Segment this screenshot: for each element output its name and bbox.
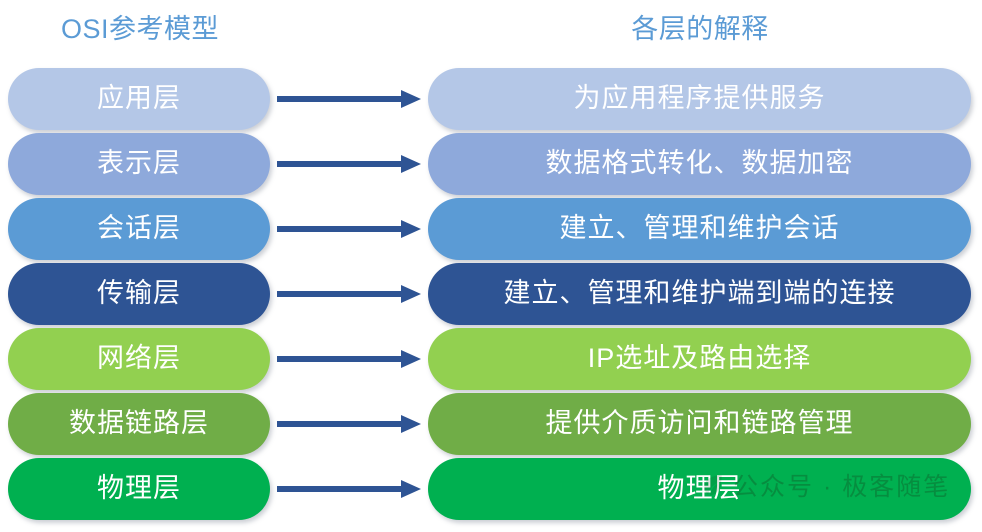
arrow-head bbox=[401, 480, 421, 498]
layer-row: 会话层建立、管理和维护会话 bbox=[0, 198, 982, 260]
layer-description-label: 提供介质访问和链路管理 bbox=[546, 410, 854, 439]
layer-pill[interactable]: 表示层 bbox=[8, 133, 270, 195]
layer-name-label: 数据链路层 bbox=[69, 410, 209, 439]
layer-description-label: IP选址及路由选择 bbox=[588, 345, 812, 374]
right-arrow-icon bbox=[277, 222, 427, 236]
layer-description-label: 建立、管理和维护会话 bbox=[560, 215, 840, 244]
layer-name-label: 物理层 bbox=[97, 475, 181, 504]
layer-pill[interactable]: 网络层 bbox=[8, 328, 270, 390]
layer-name-label: 应用层 bbox=[97, 85, 181, 114]
layer-pill[interactable]: 应用层 bbox=[8, 68, 270, 130]
layer-description-pill[interactable]: 建立、管理和维护端到端的连接 bbox=[428, 263, 971, 325]
layer-pill[interactable]: 数据链路层 bbox=[8, 393, 270, 455]
layer-name-label: 网络层 bbox=[97, 345, 181, 374]
layer-description-pill[interactable]: 建立、管理和维护会话 bbox=[428, 198, 971, 260]
layer-name-label: 表示层 bbox=[97, 150, 181, 179]
layer-row: 表示层数据格式转化、数据加密 bbox=[0, 133, 982, 195]
layer-description-pill[interactable]: 提供介质访问和链路管理 bbox=[428, 393, 971, 455]
right-arrow-icon bbox=[277, 157, 427, 171]
right-arrow-icon bbox=[277, 287, 427, 301]
layer-description-label: 建立、管理和维护端到端的连接 bbox=[504, 280, 896, 309]
right-arrow-icon bbox=[277, 482, 427, 496]
layer-description-label: 为应用程序提供服务 bbox=[574, 85, 826, 114]
arrow-shaft bbox=[277, 96, 401, 102]
arrow-shaft bbox=[277, 291, 401, 297]
arrow-head bbox=[401, 285, 421, 303]
layer-name-label: 传输层 bbox=[97, 280, 181, 309]
layer-description-label: 物理层 bbox=[658, 475, 742, 504]
arrow-head bbox=[401, 350, 421, 368]
column-header-explanation: 各层的解释 bbox=[420, 12, 980, 46]
arrow-head bbox=[401, 90, 421, 108]
arrow-head bbox=[401, 155, 421, 173]
column-header-osi-model: OSI参考模型 bbox=[0, 12, 280, 46]
layer-description-pill[interactable]: 为应用程序提供服务 bbox=[428, 68, 971, 130]
layer-row: 物理层物理层 bbox=[0, 458, 982, 520]
layer-row: 网络层IP选址及路由选择 bbox=[0, 328, 982, 390]
right-arrow-icon bbox=[277, 417, 427, 431]
arrow-head bbox=[401, 415, 421, 433]
layer-pill[interactable]: 物理层 bbox=[8, 458, 270, 520]
arrow-shaft bbox=[277, 356, 401, 362]
layer-row: 数据链路层提供介质访问和链路管理 bbox=[0, 393, 982, 455]
arrow-shaft bbox=[277, 486, 401, 492]
arrow-shaft bbox=[277, 161, 401, 167]
layer-row: 应用层为应用程序提供服务 bbox=[0, 68, 982, 130]
arrow-head bbox=[401, 220, 421, 238]
arrow-shaft bbox=[277, 421, 401, 427]
osi-model-diagram: OSI参考模型 各层的解释 应用层为应用程序提供服务表示层数据格式转化、数据加密… bbox=[0, 0, 982, 532]
layer-name-label: 会话层 bbox=[97, 215, 181, 244]
layer-description-label: 数据格式转化、数据加密 bbox=[546, 150, 854, 179]
layer-row: 传输层建立、管理和维护端到端的连接 bbox=[0, 263, 982, 325]
layer-pill[interactable]: 会话层 bbox=[8, 198, 270, 260]
arrow-shaft bbox=[277, 226, 401, 232]
layer-description-pill[interactable]: 物理层 bbox=[428, 458, 971, 520]
right-arrow-icon bbox=[277, 92, 427, 106]
right-arrow-icon bbox=[277, 352, 427, 366]
layer-description-pill[interactable]: 数据格式转化、数据加密 bbox=[428, 133, 971, 195]
layer-pill[interactable]: 传输层 bbox=[8, 263, 270, 325]
layer-description-pill[interactable]: IP选址及路由选择 bbox=[428, 328, 971, 390]
